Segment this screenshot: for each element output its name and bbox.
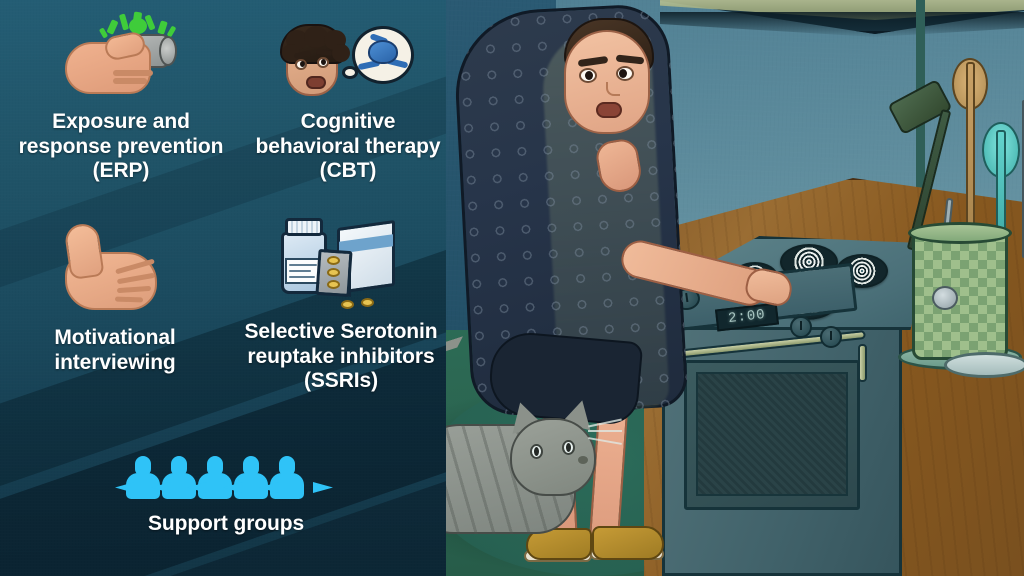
erp-icon-wrap <box>8 8 234 104</box>
cat-pupil <box>566 443 571 452</box>
cat-whisker <box>588 430 622 432</box>
woman-mouth <box>596 102 622 118</box>
oven-window <box>696 372 848 496</box>
treatment-label-erp: Exposure and response prevention (ERP) <box>8 110 234 184</box>
treatment-item-cbt: Cognitive behavioral therapy (CBT) <box>248 14 448 184</box>
stove-clock-time: 2:00 <box>727 307 766 327</box>
hand-holding-contaminated-object-icon <box>61 12 181 104</box>
treatment-item-erp: Exposure and response prevention (ERP) <box>8 8 234 184</box>
treatment-label-motivational-interviewing: Motivational interviewing <box>2 326 228 375</box>
treatment-label-support-groups: Support groups <box>76 512 376 537</box>
ladle-bowl <box>932 286 958 310</box>
crock-rim <box>908 222 1012 244</box>
mi-icon-wrap <box>2 214 228 318</box>
cat-nose <box>578 456 588 464</box>
woman-pupil <box>619 69 627 78</box>
woman-pupil <box>585 71 593 80</box>
wooden-spoon-handle <box>966 62 975 242</box>
infographic-slide: Exposure and response prevention (ERP) C… <box>0 0 1024 576</box>
stove-knob <box>820 326 842 348</box>
treatment-label-ssri: Selective Serotonin reuptake inhibitors … <box>226 320 456 394</box>
woman-nose <box>606 82 620 96</box>
cat-pupil <box>534 447 539 456</box>
oven-handle-end <box>858 344 867 382</box>
woman-slipper <box>592 526 664 560</box>
treatment-label-cbt: Cognitive behavioral therapy (CBT) <box>248 110 448 184</box>
cbt-icon-wrap <box>248 14 448 102</box>
stove-knob <box>790 316 812 338</box>
plate <box>944 352 1024 378</box>
support-icon-wrap <box>76 442 376 502</box>
treatment-item-motivational-interviewing: Motivational interviewing <box>2 214 228 375</box>
treatment-item-support-groups: Support groups <box>76 442 376 537</box>
pill-bottle-blister-pack-box-icon <box>275 214 407 314</box>
worried-face-thought-bubble-knot-icon <box>278 18 418 102</box>
treatment-item-ssri: Selective Serotonin reuptake inhibitors … <box>226 214 456 394</box>
ssri-icon-wrap <box>226 214 456 314</box>
anxious-woman-checking-stove-illustration: 2:00 <box>446 0 1024 576</box>
utensil-crock <box>912 230 1008 360</box>
linked-people-group-icon <box>135 450 317 502</box>
thumbs-up-hand-icon <box>59 218 171 318</box>
